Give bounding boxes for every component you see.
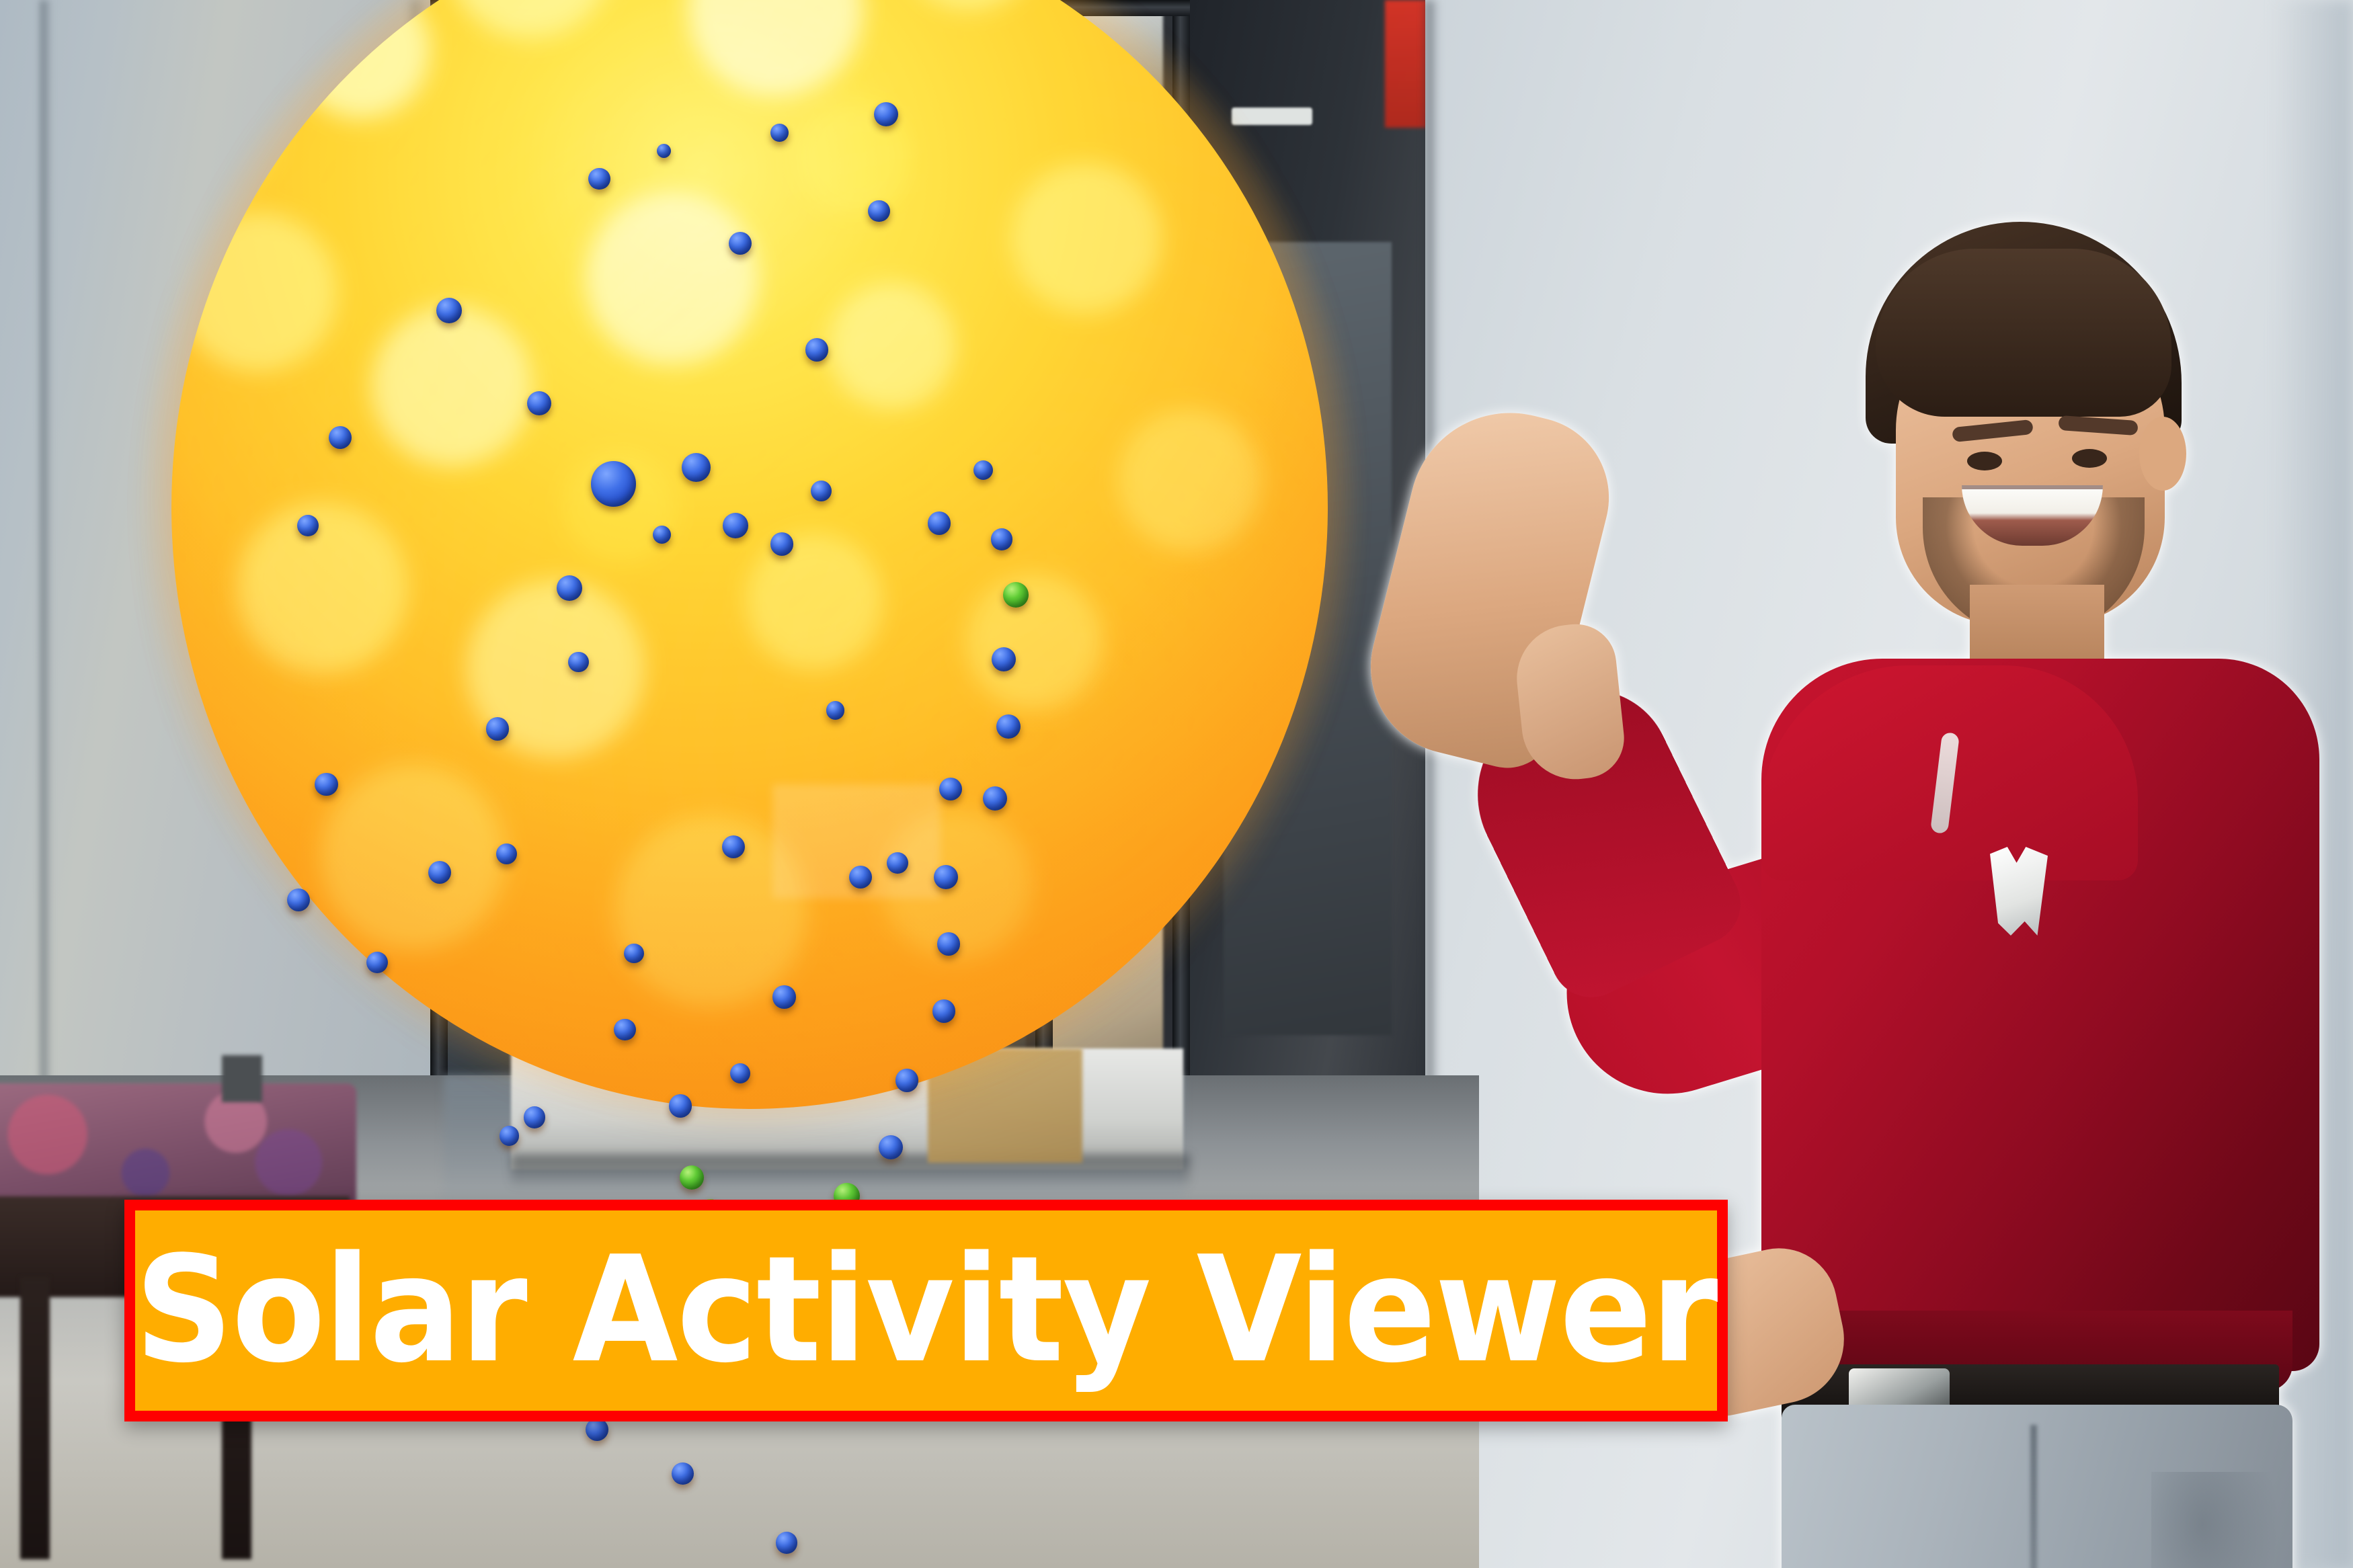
presenter-eye-left: [1967, 452, 2002, 470]
active-region-marker[interactable]: [524, 1106, 546, 1128]
active-region-marker[interactable]: [723, 513, 748, 538]
presenter-ear: [2139, 417, 2186, 491]
active-region-marker[interactable]: [895, 1069, 918, 1091]
active-region-marker[interactable]: [770, 532, 793, 555]
title-banner: Solar Activity Viewer: [124, 1200, 1728, 1421]
active-region-marker[interactable]: [868, 200, 890, 222]
active-region-marker[interactable]: [588, 168, 610, 190]
active-region-marker[interactable]: [770, 124, 789, 142]
active-region-marker[interactable]: [672, 1462, 694, 1485]
active-region-marker[interactable]: [500, 1126, 519, 1145]
active-region-marker[interactable]: [826, 701, 845, 720]
active-region-marker[interactable]: [568, 652, 588, 672]
presenter-pants-seam: [2030, 1425, 2037, 1568]
presenter-pants-pocket: [2151, 1472, 2279, 1568]
active-region-marker[interactable]: [557, 575, 582, 601]
screenshot-canvas: Solar Activity Viewer: [0, 0, 2353, 1568]
active-region-marker[interactable]: [983, 786, 1007, 811]
active-region-marker[interactable]: [811, 481, 832, 501]
active-region-marker[interactable]: [722, 835, 745, 858]
active-region-marker[interactable]: [614, 1019, 636, 1041]
banner-title-text: Solar Activity Viewer: [135, 1243, 1717, 1378]
presenter-hair-front: [1876, 249, 2171, 417]
active-region-marker[interactable]: [772, 985, 795, 1008]
active-region-marker[interactable]: [932, 999, 955, 1022]
active-region-marker[interactable]: [436, 298, 462, 323]
active-region-marker[interactable]: [934, 865, 958, 889]
active-region-marker[interactable]: [486, 717, 509, 740]
bench-leg: [20, 1277, 50, 1559]
active-region-marker[interactable]: [805, 338, 828, 361]
active-region-marker[interactable]: [849, 866, 872, 889]
left-wall-seam: [40, 0, 51, 1183]
active-region-marker[interactable]: [591, 461, 636, 506]
active-region-marker[interactable]: [527, 391, 551, 415]
active-region-marker[interactable]: [991, 528, 1013, 550]
flare-site-marker[interactable]: [1003, 582, 1029, 608]
active-region-marker[interactable]: [928, 511, 951, 534]
active-region-marker[interactable]: [879, 1135, 903, 1159]
active-region-marker[interactable]: [624, 944, 643, 963]
active-region-marker[interactable]: [937, 932, 960, 955]
active-region-marker[interactable]: [428, 861, 451, 884]
sun-hologram[interactable]: [171, 0, 1328, 1109]
flare-site-marker[interactable]: [680, 1165, 704, 1190]
active-region-marker[interactable]: [874, 102, 898, 126]
active-region-marker[interactable]: [973, 460, 993, 480]
active-region-marker[interactable]: [496, 843, 517, 864]
active-region-marker[interactable]: [669, 1094, 692, 1117]
active-region-marker[interactable]: [776, 1532, 798, 1554]
presenter-eye-right: [2072, 449, 2107, 468]
active-region-marker[interactable]: [315, 773, 337, 796]
sun-surface: [171, 0, 1328, 1109]
